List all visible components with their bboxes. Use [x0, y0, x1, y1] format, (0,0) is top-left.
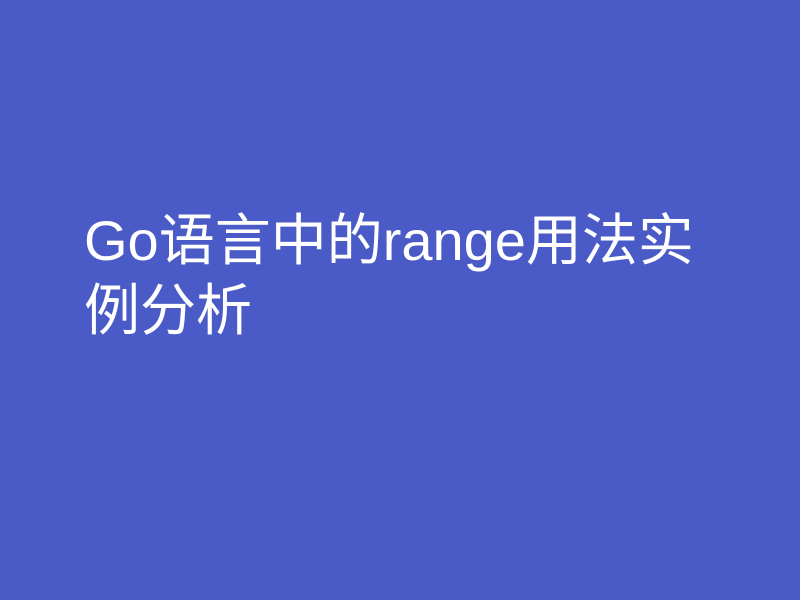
page-title: Go语言中的range用法实例分析: [84, 206, 716, 346]
title-block: Go语言中的range用法实例分析: [84, 206, 716, 346]
poster-canvas: Go语言中的range用法实例分析: [0, 0, 800, 600]
